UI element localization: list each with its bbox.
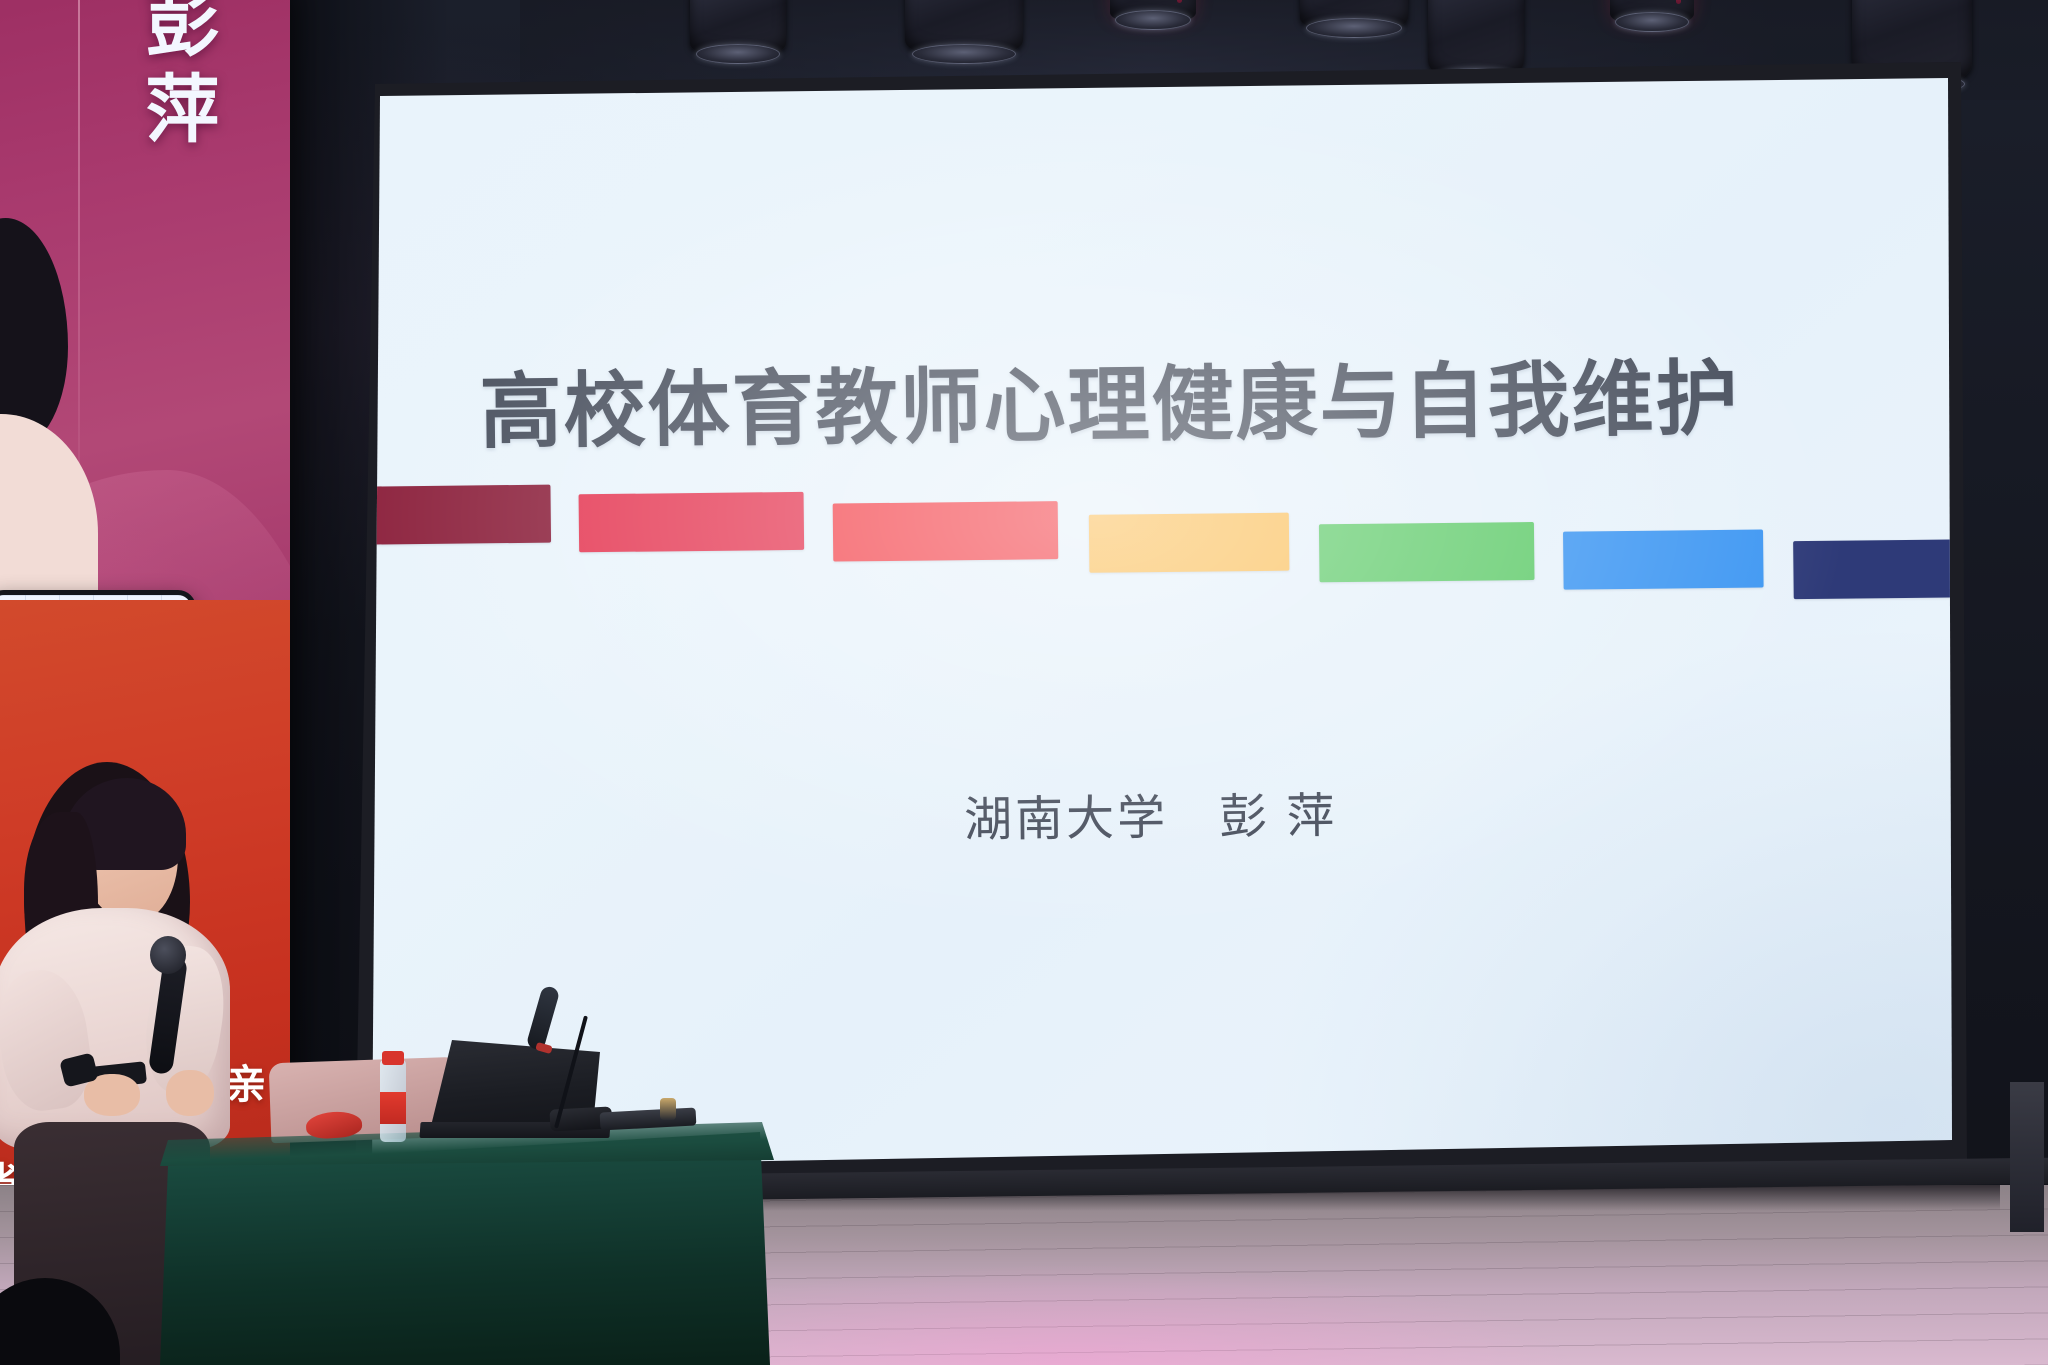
- bar-maroon: [372, 485, 551, 545]
- light-lens: [696, 44, 781, 64]
- gooseneck-head: [526, 985, 561, 1051]
- light-lens: [1306, 18, 1401, 38]
- projection-screen: 高校体育教师心理健康与自我维护 湖南大学 彭 萍: [372, 78, 1952, 1173]
- bar-crimson: [579, 492, 805, 552]
- slide-subtitle: 湖南大学 彭 萍: [964, 776, 1338, 850]
- bottle-label: [380, 1092, 406, 1124]
- slide-accent-bars: [372, 469, 1952, 577]
- bar-blue: [1563, 529, 1764, 589]
- slide-title: 高校体育教师心理健康与自我维护: [479, 330, 1880, 464]
- stage-light-1-spotlight-icon: [690, 0, 786, 58]
- bar-red: [833, 501, 1059, 561]
- bar-amber: [1089, 513, 1290, 573]
- gooseneck-microphone-icon: [508, 992, 588, 1124]
- light-lens: [1615, 12, 1689, 32]
- light-lens: [912, 44, 1016, 64]
- banner-portrait-graphic: [0, 218, 120, 638]
- bar-navy: [1793, 539, 1952, 599]
- far-right-fixture: [2010, 1082, 2044, 1232]
- light-lens: [1115, 10, 1191, 30]
- microphone-head-icon: [150, 936, 186, 974]
- stage-light-3-spotlight-icon: [1110, 0, 1196, 24]
- presenter-right-hand: [166, 1070, 214, 1116]
- presentation-scene-root: 高校体育教师心理健康与自我维护 湖南大学 彭 萍 彭萍 家 亲 省管 理学会临床…: [0, 0, 2048, 1365]
- bar-green: [1319, 522, 1535, 582]
- draped-table: [160, 1132, 770, 1365]
- stage-light-4-spotlight-icon: [1300, 0, 1408, 32]
- desk-pen-icon: [660, 1098, 676, 1120]
- banner-portrait-hair: [0, 218, 68, 448]
- bottle-cap-icon: [382, 1051, 404, 1065]
- stage-light-6-spotlight-icon: [1610, 0, 1694, 26]
- gooseneck-stalk: [554, 1015, 588, 1128]
- stage-light-2-spotlight-icon: [905, 0, 1023, 58]
- banner-speaker-name: 彭萍: [118, 0, 214, 156]
- gooseneck-ring: [535, 1042, 553, 1054]
